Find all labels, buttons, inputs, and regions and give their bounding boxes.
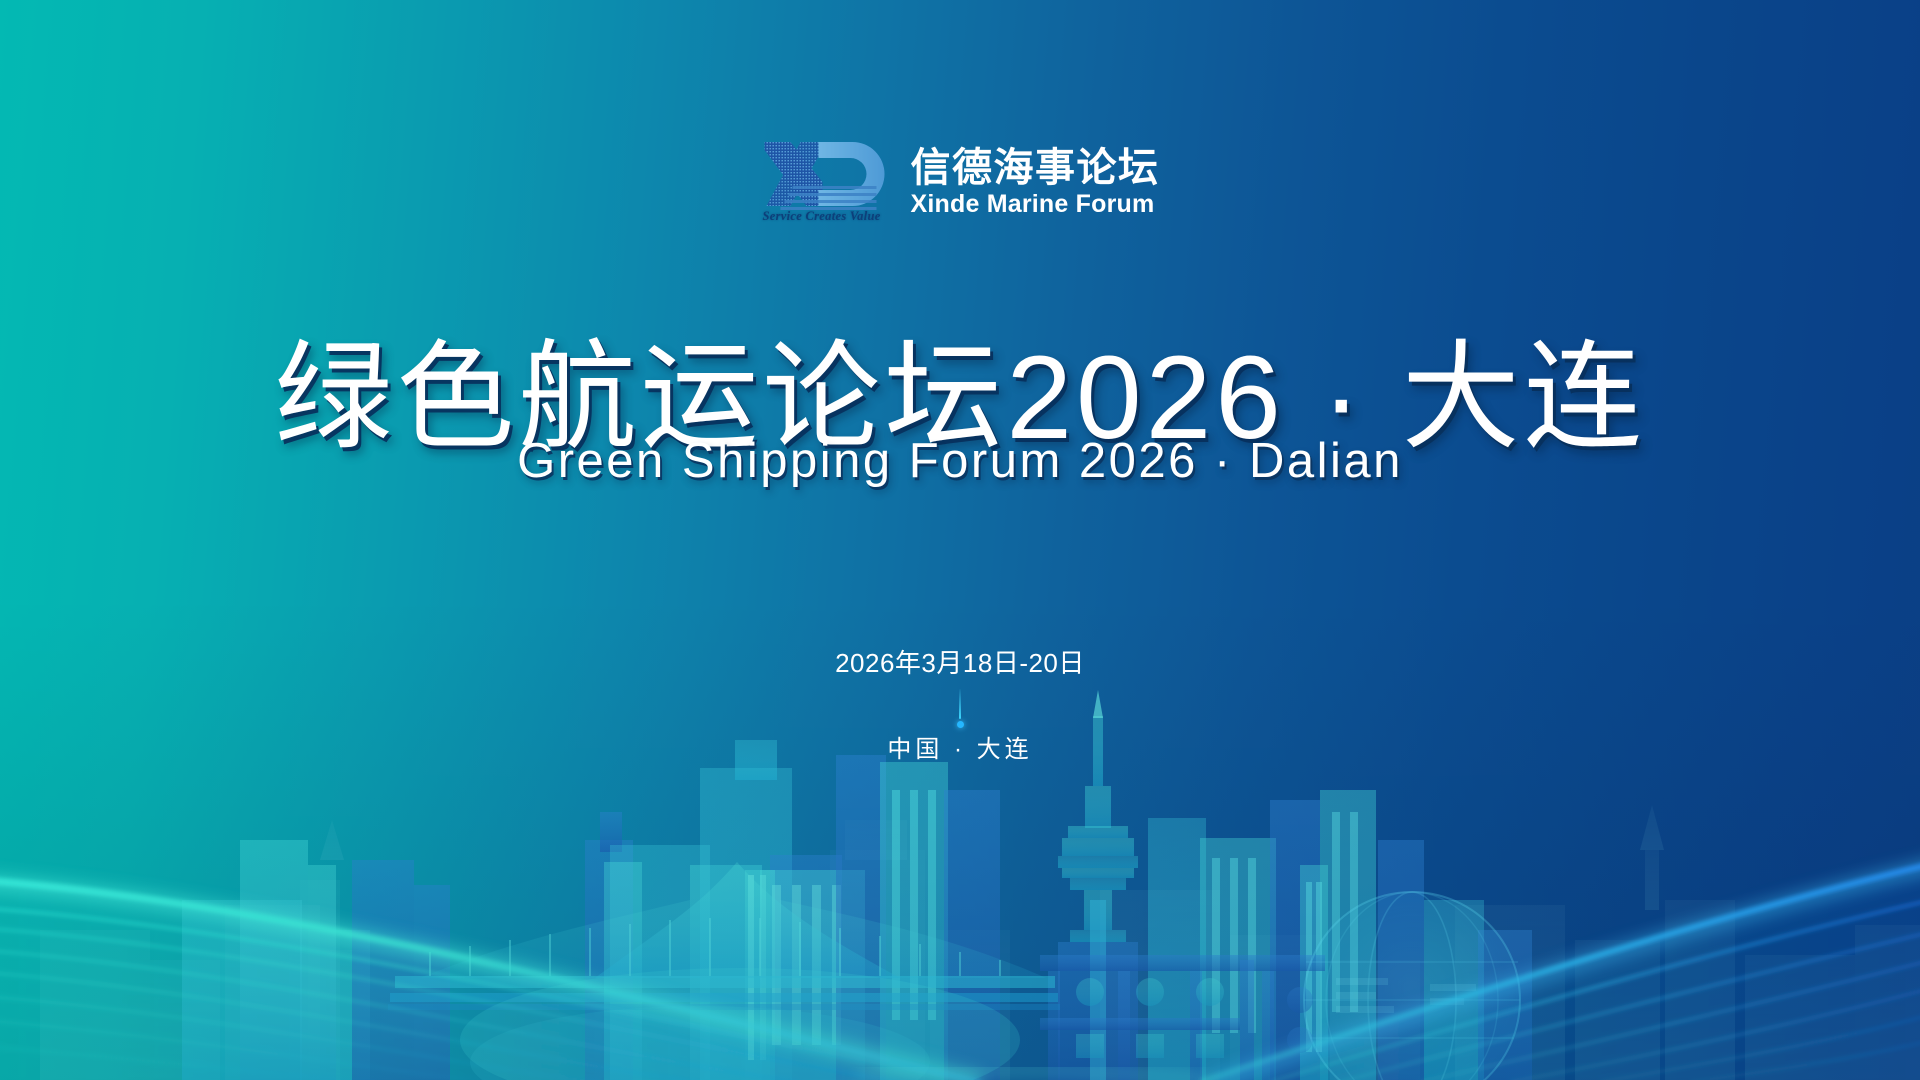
event-date: 2026年3月18日-20日 xyxy=(0,648,1920,679)
event-meta: 2026年3月18日-20日 中国 · 大连 xyxy=(0,648,1920,765)
meta-dot-icon xyxy=(957,721,964,728)
logo-tagline: Service Creates Value xyxy=(763,209,881,224)
xd-monogram-icon: Service Creates Value xyxy=(761,136,893,220)
logo-name-cn: 信德海事论坛 xyxy=(911,147,1160,189)
logo-name-en: Xinde Marine Forum xyxy=(911,191,1160,219)
poster-canvas: Service Creates Value 信德海事论坛 Xinde Marin… xyxy=(0,0,1920,1080)
forum-logo: Service Creates Value 信德海事论坛 Xinde Marin… xyxy=(761,136,1160,220)
meta-divider xyxy=(959,689,961,719)
headline-title-en: Green Shipping Forum 2026 · Dalian xyxy=(0,433,1920,489)
logo-wordmark: 信德海事论坛 Xinde Marine Forum xyxy=(911,147,1160,221)
event-location: 中国 · 大连 xyxy=(0,736,1920,765)
